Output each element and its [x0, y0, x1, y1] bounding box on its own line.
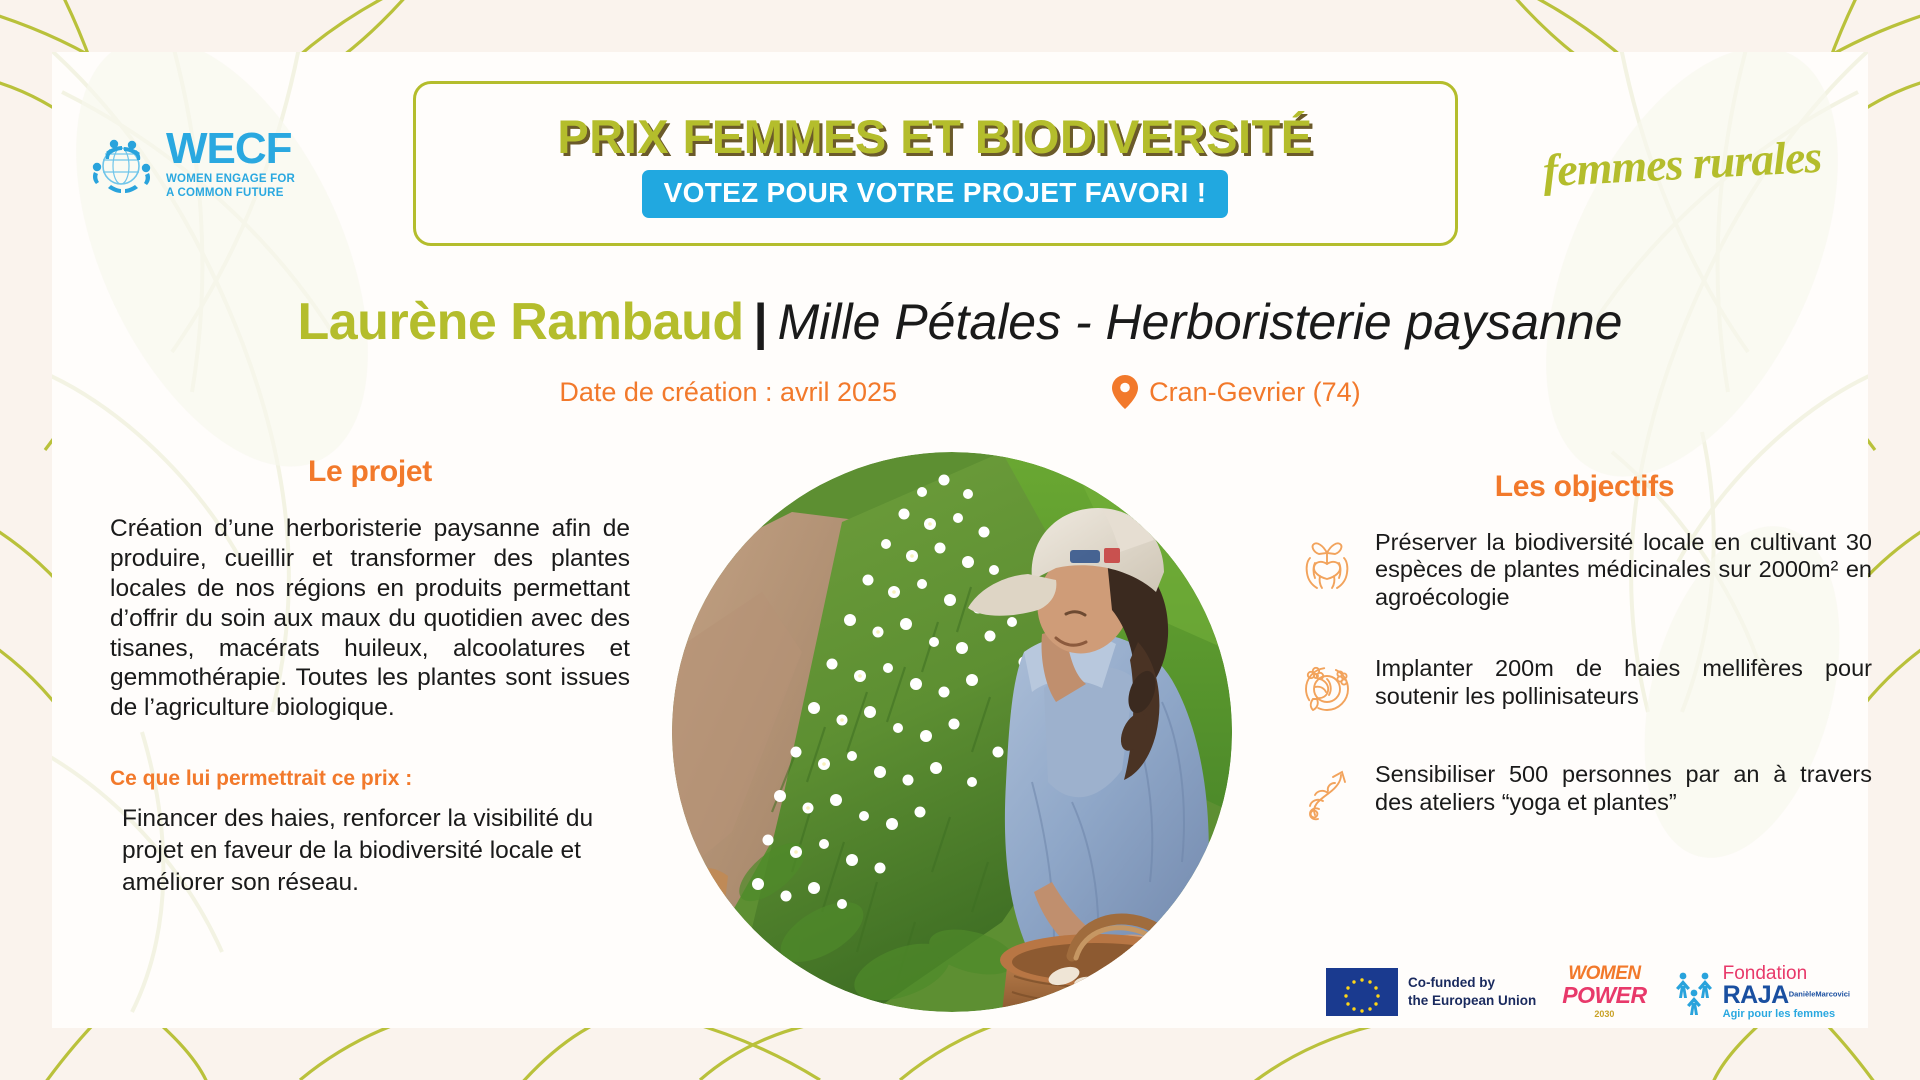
prize-heading: Ce que lui permettrait ce prix :	[110, 767, 630, 791]
objective-text: Préserver la biodiversité locale en cult…	[1375, 529, 1872, 611]
eu-text-line1: Co-funded by	[1408, 974, 1536, 992]
fondation-raja-logo: Fondation RAJADanièleMarcovici Agir pour…	[1673, 964, 1850, 1020]
femmes-rurales-logo: femmes rurales	[1531, 129, 1833, 198]
project-photo	[672, 452, 1232, 1012]
right-column: Les objectifs Préserver la biodiversité …	[1297, 470, 1872, 867]
women-power-line1: WOMEN	[1562, 964, 1646, 983]
page-title: PRIX FEMMES ET BIODIVERSITÉ	[557, 109, 1312, 164]
map-pin-icon	[1112, 375, 1138, 409]
project-headline: Laurène Rambaud|Mille Pétales - Herboris…	[0, 292, 1920, 352]
eu-text-line2: the European Union	[1408, 992, 1536, 1010]
raja-tagline: Agir pour les femmes	[1723, 1009, 1850, 1020]
right-column-heading: Les objectifs	[1297, 470, 1872, 504]
objective-item: Préserver la biodiversité locale en cult…	[1297, 529, 1872, 611]
project-description: Création d’une herboristerie paysanne af…	[110, 514, 630, 723]
wecf-acronym: WECF	[166, 127, 295, 171]
headline-separator: |	[754, 294, 768, 350]
raja-sup1: Danièle	[1789, 990, 1816, 999]
wecf-tagline-line2: A COMMON FUTURE	[166, 188, 295, 200]
person-name: Laurène Rambaud	[298, 293, 744, 351]
poster-root: WECF WOMEN ENGAGE FOR A COMMON FUTURE PR…	[0, 0, 1920, 1080]
location-block: Cran-Gevrier (74)	[1112, 375, 1361, 409]
wecf-logo: WECF WOMEN ENGAGE FOR A COMMON FUTURE	[88, 127, 338, 200]
eu-funding-logo: Co-funded by the European Union	[1326, 968, 1536, 1016]
title-box: PRIX FEMMES ET BIODIVERSITÉ VOTEZ POUR V…	[413, 81, 1458, 246]
location-label: Cran-Gevrier (74)	[1149, 377, 1361, 408]
hands-holding-plant-icon	[1297, 531, 1357, 591]
vote-badge[interactable]: VOTEZ POUR VOTRE PROJET FAVORI !	[642, 170, 1229, 218]
objective-item: Implanter 200m de haies mellifères pour …	[1297, 655, 1872, 717]
objective-text: Sensibiliser 500 personnes par an à trav…	[1375, 761, 1872, 816]
raja-sup2: Marcovici	[1815, 990, 1850, 999]
footer-logos: Co-funded by the European Union WOMEN PO…	[1326, 964, 1850, 1020]
prize-description: Financer des haies, renforcer la visibil…	[110, 803, 630, 899]
left-column-heading: Le projet	[110, 455, 630, 489]
project-photo-image	[672, 452, 1232, 1012]
project-meta: Date de création : avril 2025 Cran-Gevri…	[0, 375, 1920, 409]
creation-date: Date de création : avril 2025	[559, 377, 897, 408]
globe-pollinators-icon	[1297, 657, 1357, 717]
wecf-globe-people-icon	[88, 130, 154, 196]
project-name: Mille Pétales - Herboristerie paysanne	[778, 294, 1623, 350]
women-power-logo: WOMEN POWER 2030	[1562, 964, 1646, 1019]
women-power-year: 2030	[1562, 1010, 1646, 1019]
wecf-tagline-line1: WOMEN ENGAGE FOR	[166, 174, 295, 186]
header: WECF WOMEN ENGAGE FOR A COMMON FUTURE PR…	[52, 78, 1868, 248]
eu-flag-icon	[1326, 968, 1398, 1016]
raja-line2: RAJA	[1723, 981, 1789, 1009]
women-power-line2: POWER	[1562, 984, 1646, 1007]
objective-text: Implanter 200m de haies mellifères pour …	[1375, 655, 1872, 710]
raja-people-icon	[1673, 969, 1717, 1015]
objective-item: Sensibiliser 500 personnes par an à trav…	[1297, 761, 1872, 823]
growth-arrow-icon	[1297, 763, 1357, 823]
left-column: Le projet Création d’une herboristerie p…	[110, 455, 630, 899]
